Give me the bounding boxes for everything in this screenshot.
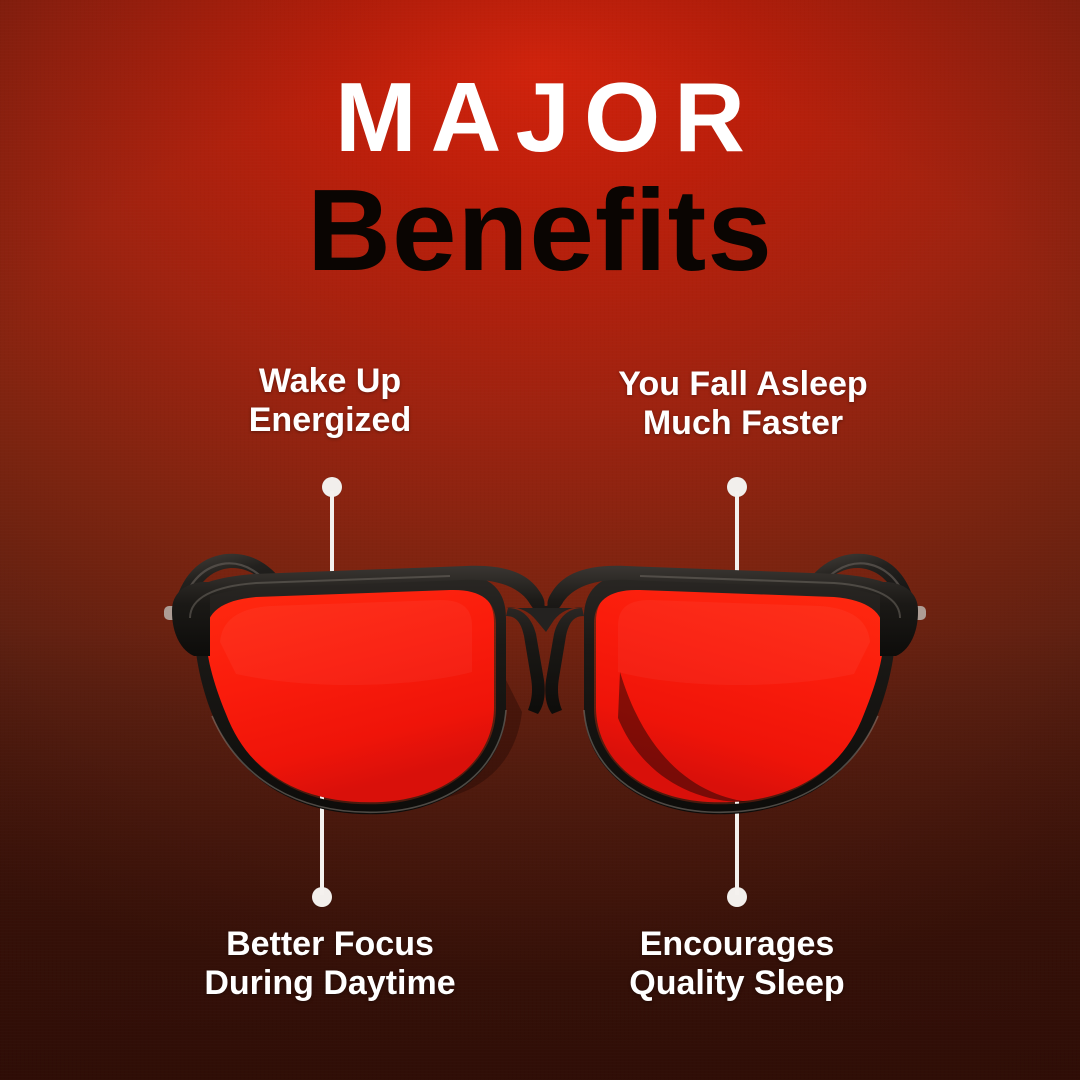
benefit-label-wake-up-energized: Wake Up Energized xyxy=(180,362,480,441)
title-line-benefits: Benefits xyxy=(0,172,1080,288)
title-line-major: MAJOR xyxy=(0,68,1080,166)
glasses-illustration xyxy=(150,522,940,822)
benefit-label-fall-asleep-faster: You Fall Asleep Much Faster xyxy=(588,365,898,444)
benefit-label-better-focus: Better Focus During Daytime xyxy=(170,925,490,1004)
product-image-glasses xyxy=(150,522,940,822)
right-endpiece xyxy=(880,582,918,656)
left-endpiece xyxy=(172,582,210,656)
poster-canvas: MAJOR Benefits Wake Up Energized You Fal… xyxy=(0,0,1080,1080)
benefit-label-quality-sleep: Encourages Quality Sleep xyxy=(592,925,882,1004)
